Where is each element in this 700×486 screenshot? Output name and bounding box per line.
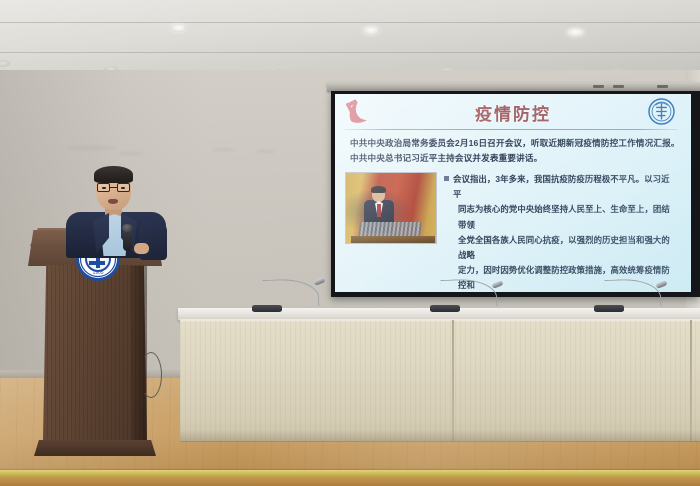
ceiling-downlight	[566, 28, 585, 37]
floor-front-edge	[0, 478, 700, 486]
wall-mark	[118, 152, 144, 155]
gooseneck-microphone[interactable]	[252, 280, 332, 312]
projection-screen[interactable]: 疫情防控 中共中央政治局常务委员会2月16日召开会议，听取近期新冠疫情防控工作情…	[331, 91, 700, 297]
bullet-text-line: 会议指出，3年多来，我国抗疫防疫历程极不平凡。以习近平	[453, 174, 670, 199]
presenter-hand	[134, 243, 149, 254]
wall-mark	[212, 148, 234, 151]
presenter-mouth	[108, 199, 118, 204]
slide-title: 疫情防控	[342, 100, 684, 125]
slide-bullet-line: 会议指出，3年多来，我国抗疫防疫历程极不平凡。以习近平	[444, 172, 677, 202]
photo-microphone-bank	[358, 222, 422, 236]
conference-hall-scene: 疫情防控 中共中央政治局常务委员会2月16日召开会议，听取近期新冠疫情防控工作情…	[0, 0, 700, 486]
slide-bullet-line: 同志为核心的党中央始终坚持人民至上、生命至上，团结带领	[444, 202, 677, 232]
microphone-capsule	[491, 280, 503, 289]
university-seal-icon	[648, 98, 675, 125]
screen-surface: 疫情防控 中共中央政治局常务委员会2月16日召开会议，听取近期新冠疫情防控工作情…	[335, 94, 691, 292]
ceiling-seam	[0, 22, 700, 23]
slide-header: 疫情防控	[342, 98, 684, 129]
table-panel-seam	[690, 320, 692, 441]
podium-base	[34, 440, 156, 456]
floor-edge-strip	[0, 470, 700, 478]
microphone-neck	[605, 278, 662, 308]
ceiling	[0, 0, 700, 74]
presenter-eye	[102, 187, 106, 189]
microphone-head-icon	[122, 224, 133, 232]
slide-bullet-block: 会议指出，3年多来，我国抗疫防疫历程极不平凡。以习近平 同志为核心的党中央始终坚…	[444, 172, 684, 292]
microphone-neck	[441, 278, 498, 308]
photo-figure-tie	[377, 204, 381, 217]
podium-cable	[140, 352, 162, 398]
slide-body: 会议指出，3年多来，我国抗疫防疫历程极不平凡。以习近平 同志为核心的党中央始终坚…	[342, 172, 684, 292]
glasses-bridge	[110, 187, 117, 188]
photo-desk	[351, 236, 435, 243]
microphone-capsule	[655, 280, 667, 289]
table-floor-shadow	[180, 430, 700, 442]
bullet-square-icon	[444, 176, 449, 181]
ceiling-downlight	[170, 24, 187, 32]
slide-lead-paragraph: 中共中央政治局常务委员会2月16日召开会议，听取近期新冠疫情防控工作情况汇报。中…	[350, 136, 680, 166]
seal-year: 1905	[92, 270, 103, 276]
gooseneck-microphone[interactable]	[594, 282, 674, 312]
ceiling-seam	[0, 52, 700, 53]
slide-bullet-line: 全党全国各族人民同心抗疫，以强烈的历史担当和强大的战略	[444, 233, 677, 263]
microphone-neck	[263, 278, 320, 308]
presenter-arm	[139, 220, 167, 260]
presentation-slide: 疫情防控 中共中央政治局常务委员会2月16日召开会议，听取近期新冠疫情防控工作情…	[335, 94, 691, 292]
housing-screw-icon	[613, 85, 624, 88]
ceiling-downlight	[362, 26, 380, 35]
photo-figure-hair	[371, 186, 386, 193]
conference-table-front	[180, 319, 700, 441]
presenter-eye	[121, 187, 125, 189]
housing-screw-icon	[657, 85, 668, 88]
gooseneck-microphone[interactable]	[430, 282, 510, 312]
title-divider	[345, 129, 678, 130]
housing-screw-icon	[593, 85, 604, 88]
table-edge-highlight	[180, 319, 700, 322]
presenter-hair	[94, 166, 133, 183]
slide-photo	[345, 172, 437, 244]
wall-mark	[256, 150, 276, 153]
wall-mark	[66, 146, 116, 150]
presenter	[60, 168, 172, 254]
table-panel-seam	[452, 320, 454, 441]
